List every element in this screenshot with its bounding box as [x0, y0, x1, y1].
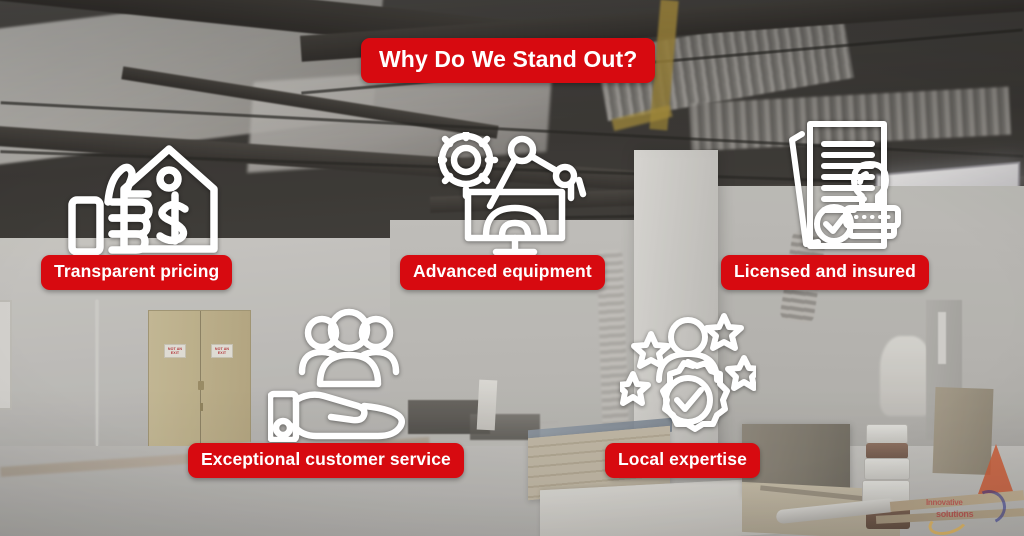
- feature-exceptional-customer-service: [268, 308, 416, 442]
- page-title: Why Do We Stand Out?: [361, 38, 655, 83]
- screenshot-canvas: NOT AN EXIT NOT AN EXIT: [0, 0, 1024, 536]
- label-licensed-and-insured: Licensed and insured: [721, 255, 929, 290]
- label-advanced-equipment: Advanced equipment: [400, 255, 605, 290]
- thumbs-up-price-tag-icon: [68, 122, 238, 257]
- feature-transparent-pricing: [68, 122, 238, 257]
- robotic-arm-monitor-gear-icon: [438, 132, 590, 260]
- feature-advanced-equipment: [438, 132, 590, 260]
- hand-holding-people-group-icon: [268, 308, 416, 442]
- feature-licensed-and-insured: [780, 118, 908, 258]
- label-exceptional-customer-service: Exceptional customer service: [188, 443, 464, 478]
- label-transparent-pricing: Transparent pricing: [41, 255, 232, 290]
- person-gear-check-stars-icon: [620, 302, 756, 444]
- certificate-stamp-check-icon: [780, 118, 908, 258]
- label-local-expertise: Local expertise: [605, 443, 760, 478]
- feature-local-expertise: [620, 302, 756, 444]
